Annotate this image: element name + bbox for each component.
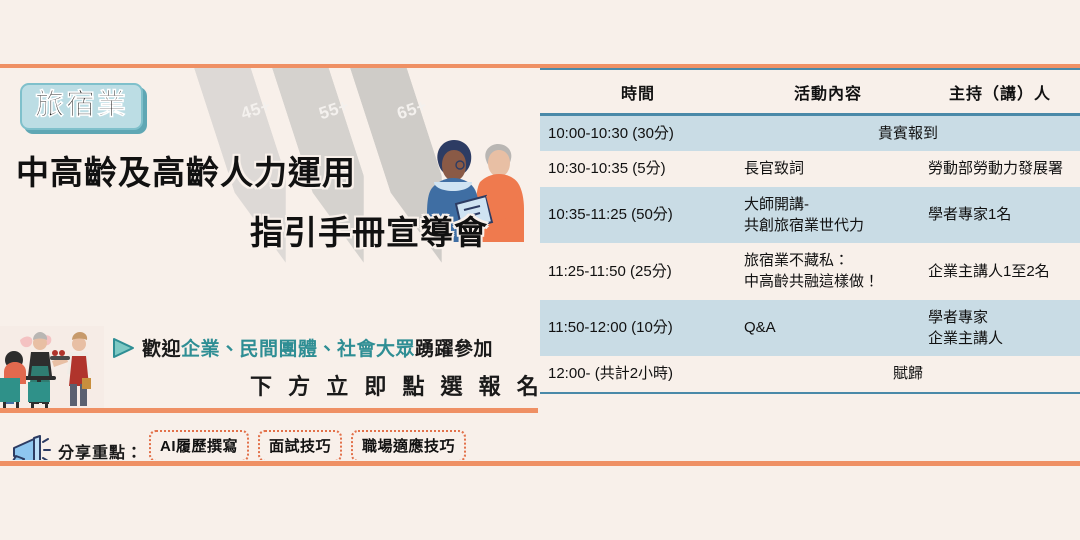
keypoints-section: 分享重點： AI履歷撰寫 面試技巧 職場適應技巧 職務再設計 人才培訓 世代合作… xyxy=(10,426,538,460)
cell-time: 10:30-10:35 (5分) xyxy=(540,151,736,186)
agenda-table-head: 時間 活動內容 主持（講）人 xyxy=(540,69,1080,115)
cafe-scene-illustration xyxy=(0,326,104,408)
cell-content: Q&A xyxy=(736,300,920,357)
cell-content: 大師開講- 共創旅宿業世代力 xyxy=(736,187,920,244)
keypoint-tag[interactable]: 面試技巧 xyxy=(258,430,342,460)
cta-line[interactable]: 下 方 立 即 點 選 報 名 xyxy=(250,363,538,407)
play-triangle-icon xyxy=(112,337,136,359)
cell-content-line: 共創旅宿業世代力 xyxy=(744,215,912,236)
cell-time: 10:00-10:30 (30分) xyxy=(540,115,736,152)
industry-badge: 旅宿業 xyxy=(20,83,143,130)
cta-text: 下 方 立 即 點 選 報 名 xyxy=(250,369,538,401)
cell-time: 12:00- (共計2小時) xyxy=(540,356,736,392)
cell-merged: 貴賓報到 xyxy=(736,115,1080,152)
table-row: 11:25-11:50 (25分) 旅宿業不藏私： 中高齡共融這樣做！ 企業主講… xyxy=(540,243,1080,300)
bottom-divider-rule xyxy=(0,461,1080,466)
keypoints-label: 分享重點： xyxy=(58,439,143,460)
cell-host: 企業主講人1至2名 xyxy=(920,243,1080,300)
cell-content-line: 大師開講- xyxy=(744,194,912,215)
keypoint-tag-row-1: AI履歷撰寫 面試技巧 職場適應技巧 xyxy=(149,430,528,460)
cell-content-line: 旅宿業不藏私： xyxy=(744,250,912,271)
agenda-panel: 時間 活動內容 主持（講）人 10:00-10:30 (30分) 貴賓報到 10… xyxy=(540,68,1080,460)
column-header-content: 活動內容 xyxy=(736,69,920,115)
cell-host: 學者專家1名 xyxy=(920,187,1080,244)
keypoint-tag[interactable]: AI履歷撰寫 xyxy=(149,430,249,460)
cell-time: 11:50-12:00 (10分) xyxy=(540,300,736,357)
keypoint-tag[interactable]: 職場適應技巧 xyxy=(351,430,466,460)
page-title-line2: 指引手冊宣導會 xyxy=(250,206,488,254)
welcome-highlight: 企業、民間團體、社會大眾 xyxy=(181,339,415,360)
megaphone-icon xyxy=(10,434,52,460)
cell-content: 長官致詞 xyxy=(736,151,920,186)
left-panel-divider xyxy=(0,408,538,413)
welcome-prefix: 歡迎 xyxy=(142,339,181,360)
cell-host-line: 學者專家 xyxy=(928,307,1072,328)
watermark-label-55: 55+ xyxy=(317,96,352,124)
table-row: 10:30-10:35 (5分) 長官致詞 勞動部勞動力發展署 xyxy=(540,151,1080,186)
cell-content-line: 中高齡共融這樣做！ xyxy=(744,271,912,292)
hero-panel: 45+ 55+ 65+ 旅宿業 中高齡及高齡人力運用 指引手冊宣導會 xyxy=(0,68,538,460)
welcome-line: 歡迎企業、民間團體、社會大眾踴躍參加 xyxy=(112,334,493,361)
welcome-text: 歡迎企業、民間團體、社會大眾踴躍參加 xyxy=(142,334,493,361)
table-row: 10:35-11:25 (50分) 大師開講- 共創旅宿業世代力 學者專家1名 xyxy=(540,187,1080,244)
keypoint-tag-grid: AI履歷撰寫 面試技巧 職場適應技巧 職務再設計 人才培訓 世代合作 勞動權益 xyxy=(149,430,528,460)
cell-time: 10:35-11:25 (50分) xyxy=(540,187,736,244)
agenda-table: 時間 活動內容 主持（講）人 10:00-10:30 (30分) 貴賓報到 10… xyxy=(540,68,1080,394)
table-row: 11:50-12:00 (10分) Q&A 學者專家 企業主講人 xyxy=(540,300,1080,357)
cell-host: 學者專家 企業主講人 xyxy=(920,300,1080,357)
cell-host-line: 企業主講人 xyxy=(928,328,1072,349)
page-title-line1: 中高齡及高齡人力運用 xyxy=(16,146,356,194)
column-header-host: 主持（講）人 xyxy=(920,69,1080,115)
watermark-label-45: 45+ xyxy=(239,96,274,124)
table-row: 10:00-10:30 (30分) 貴賓報到 xyxy=(540,115,1080,152)
table-row: 12:00- (共計2小時) 賦歸 xyxy=(540,356,1080,392)
cell-time: 11:25-11:50 (25分) xyxy=(540,243,736,300)
welcome-suffix: 踴躍參加 xyxy=(415,339,493,360)
cell-merged: 賦歸 xyxy=(736,356,1080,392)
cell-content: 旅宿業不藏私： 中高齡共融這樣做！ xyxy=(736,243,920,300)
agenda-header-row: 時間 活動內容 主持（講）人 xyxy=(540,69,1080,115)
column-header-time: 時間 xyxy=(540,69,736,115)
poster-canvas: 45+ 55+ 65+ 旅宿業 中高齡及高齡人力運用 指引手冊宣導會 xyxy=(0,0,1080,540)
agenda-table-body: 10:00-10:30 (30分) 貴賓報到 10:30-10:35 (5分) … xyxy=(540,115,1080,393)
cell-host: 勞動部勞動力發展署 xyxy=(920,151,1080,186)
